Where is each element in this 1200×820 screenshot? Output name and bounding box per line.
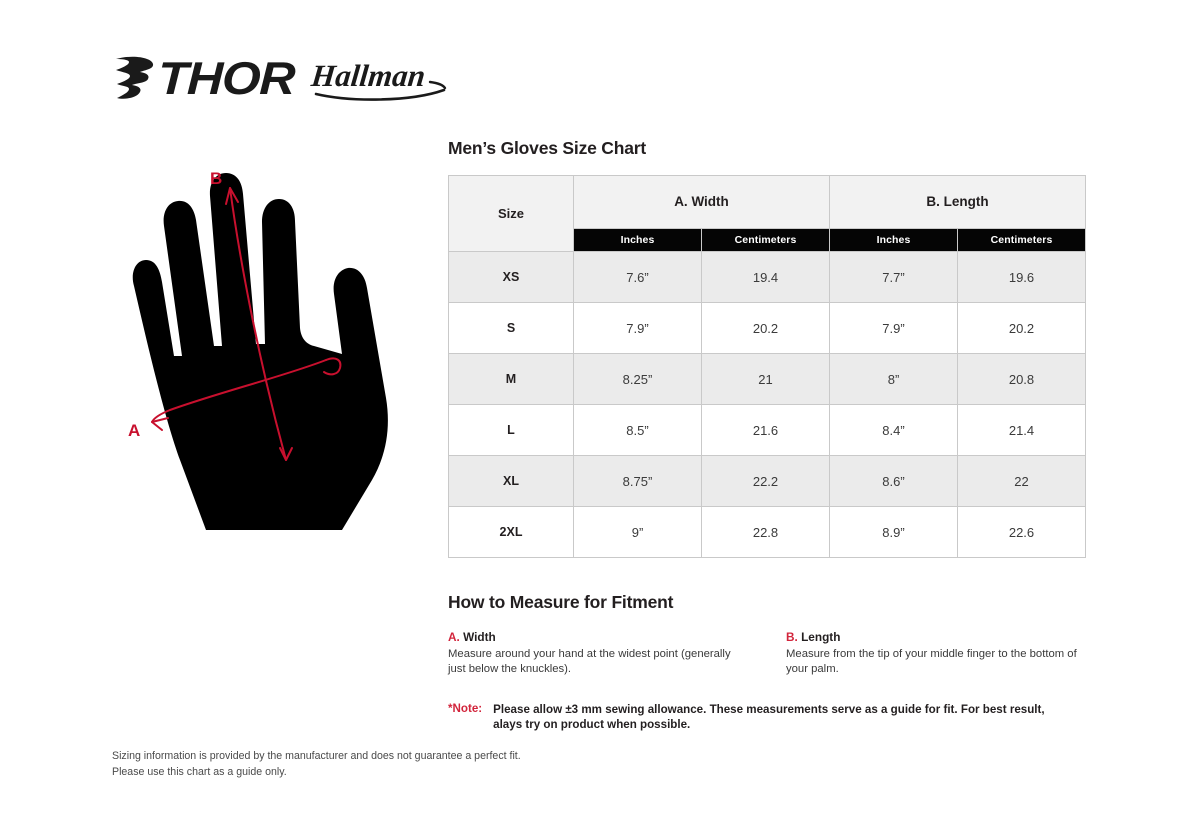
cell-width-inches: 8.75”	[574, 456, 702, 507]
col-group-header-width: A. Width	[574, 176, 830, 229]
howto-item-heading: B. Length	[786, 630, 1088, 644]
hallman-logo: Hallman	[310, 52, 450, 104]
disclaimer: Sizing information is provided by the ma…	[112, 748, 521, 781]
thor-logo: THOR	[112, 55, 284, 101]
note-row: *Note: Please allow ±3 mm sewing allowan…	[448, 702, 1088, 733]
howto-item-label: Width	[460, 630, 496, 644]
size-chart-table: Size A. Width B. Length Inches Centimete…	[448, 175, 1086, 558]
cell-width-centimeters: 21.6	[702, 405, 830, 456]
cell-size: S	[449, 303, 574, 354]
thor-wordmark: THOR	[157, 55, 295, 101]
howto-item-width: A. Width Measure around your hand at the…	[448, 630, 750, 678]
diagram-label-a: A	[128, 421, 140, 440]
size-chart-page: THOR Hallman	[0, 0, 1200, 820]
table-row: 2XL 9” 22.8 8.9” 22.6	[449, 507, 1086, 558]
col-header-size: Size	[449, 176, 574, 252]
cell-length-centimeters: 22.6	[958, 507, 1086, 558]
howto-item-tag: B.	[786, 630, 798, 644]
cell-size: 2XL	[449, 507, 574, 558]
cell-width-centimeters: 20.2	[702, 303, 830, 354]
cell-length-inches: 8.6”	[830, 456, 958, 507]
cell-width-centimeters: 19.4	[702, 252, 830, 303]
cell-size: L	[449, 405, 574, 456]
brand-logo-band: THOR Hallman	[112, 52, 450, 104]
table-row: XL 8.75” 22.2 8.6” 22	[449, 456, 1086, 507]
col-header-length-centimeters: Centimeters	[958, 228, 1086, 251]
howto-item-text: Measure from the tip of your middle fing…	[786, 647, 1088, 678]
cell-width-centimeters: 22.8	[702, 507, 830, 558]
page-title: Men’s Gloves Size Chart	[448, 138, 1088, 159]
svg-text:Hallman: Hallman	[310, 58, 427, 93]
table-row: XS 7.6” 19.4 7.7” 19.6	[449, 252, 1086, 303]
col-header-width-inches: Inches	[574, 228, 702, 251]
size-chart-panel: Men’s Gloves Size Chart Size A. Width B.…	[448, 138, 1088, 733]
howto-item-tag: A.	[448, 630, 460, 644]
howto-item-length: B. Length Measure from the tip of your m…	[786, 630, 1088, 678]
howto-item-label: Length	[798, 630, 841, 644]
disclaimer-line-2: Please use this chart as a guide only.	[112, 764, 521, 780]
howto-columns: A. Width Measure around your hand at the…	[448, 630, 1088, 678]
disclaimer-line-1: Sizing information is provided by the ma…	[112, 748, 521, 764]
thor-helmet-icon	[112, 55, 156, 101]
diagram-label-b: B	[210, 169, 222, 188]
cell-width-centimeters: 21	[702, 354, 830, 405]
col-header-width-centimeters: Centimeters	[702, 228, 830, 251]
table-group-header-row: Size A. Width B. Length	[449, 176, 1086, 229]
cell-length-centimeters: 20.2	[958, 303, 1086, 354]
cell-length-centimeters: 19.6	[958, 252, 1086, 303]
table-head: Size A. Width B. Length Inches Centimete…	[449, 176, 1086, 252]
cell-length-centimeters: 22	[958, 456, 1086, 507]
cell-length-inches: 8.9”	[830, 507, 958, 558]
col-header-length-inches: Inches	[830, 228, 958, 251]
table-body: XS 7.6” 19.4 7.7” 19.6 S 7.9” 20.2 7.9” …	[449, 252, 1086, 558]
cell-width-inches: 8.5”	[574, 405, 702, 456]
cell-length-inches: 8”	[830, 354, 958, 405]
cell-length-centimeters: 20.8	[958, 354, 1086, 405]
cell-length-inches: 8.4”	[830, 405, 958, 456]
cell-width-inches: 7.6”	[574, 252, 702, 303]
cell-length-inches: 7.7”	[830, 252, 958, 303]
table-row: M 8.25” 21 8” 20.8	[449, 354, 1086, 405]
cell-width-inches: 7.9”	[574, 303, 702, 354]
cell-width-centimeters: 22.2	[702, 456, 830, 507]
howto-item-text: Measure around your hand at the widest p…	[448, 647, 750, 678]
hand-measurement-diagram: B A	[110, 160, 440, 530]
note-text: Please allow ±3 mm sewing allowance. The…	[493, 702, 1076, 733]
cell-size: M	[449, 354, 574, 405]
cell-width-inches: 9”	[574, 507, 702, 558]
cell-size: XL	[449, 456, 574, 507]
table-row: S 7.9” 20.2 7.9” 20.2	[449, 303, 1086, 354]
note-label: *Note:	[448, 702, 493, 733]
howto-title: How to Measure for Fitment	[448, 592, 1088, 613]
howto-item-heading: A. Width	[448, 630, 750, 644]
cell-width-inches: 8.25”	[574, 354, 702, 405]
cell-length-centimeters: 21.4	[958, 405, 1086, 456]
cell-length-inches: 7.9”	[830, 303, 958, 354]
cell-size: XS	[449, 252, 574, 303]
table-row: L 8.5” 21.6 8.4” 21.4	[449, 405, 1086, 456]
col-group-header-length: B. Length	[830, 176, 1086, 229]
